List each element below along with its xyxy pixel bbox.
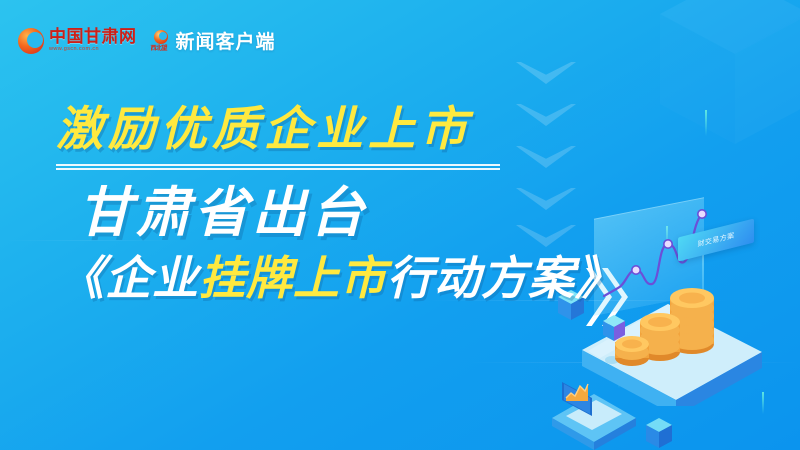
illustration-label-text: 财交易方案 xyxy=(698,230,735,249)
poster-canvas: 中国甘肃网 www.gscn.com.cn 西北望 新闻客户端 激励优质企业上市… xyxy=(0,0,800,450)
headline-divider xyxy=(56,164,500,169)
headline-line-3: 《企业挂牌上市行动方案》 xyxy=(58,254,622,302)
headline-line-2: 甘肃省出台 xyxy=(78,185,622,242)
coin-stacks-icon xyxy=(614,278,734,370)
laptop-icon xyxy=(546,372,642,450)
headline-line-3-part-3: 行动方案 xyxy=(387,252,575,304)
header-logos: 中国甘肃网 www.gscn.com.cn 西北望 新闻客户端 xyxy=(18,27,276,54)
flame-circle-icon xyxy=(18,28,44,54)
headline-line-3-part-1: 企业 xyxy=(105,252,199,304)
site-logo[interactable]: 中国甘肃网 www.gscn.com.cn xyxy=(18,28,137,54)
iso-cube-small-icon xyxy=(646,418,672,448)
site-logo-url: www.gscn.com.cn xyxy=(49,47,137,53)
headline-line-3-highlight: 挂牌上市 xyxy=(199,252,387,304)
iso-cube-small-icon xyxy=(603,315,625,341)
headline-block: 激励优质企业上市 甘肃省出台 《企业挂牌上市行动方案》 xyxy=(56,104,622,302)
app-logo-seal: 西北望 xyxy=(151,43,168,52)
headline-line-1: 激励优质企业上市 xyxy=(56,104,622,153)
flame-circle-icon: 西北望 xyxy=(151,30,171,52)
site-logo-name: 中国甘肃网 xyxy=(49,28,137,45)
headline-open-bracket: 《 xyxy=(58,252,105,304)
app-logo-name: 新闻客户端 xyxy=(176,27,276,54)
app-logo[interactable]: 西北望 新闻客户端 xyxy=(151,27,276,54)
headline-close-bracket: 》 xyxy=(575,252,622,304)
iso-cube-large-icon xyxy=(660,0,800,144)
